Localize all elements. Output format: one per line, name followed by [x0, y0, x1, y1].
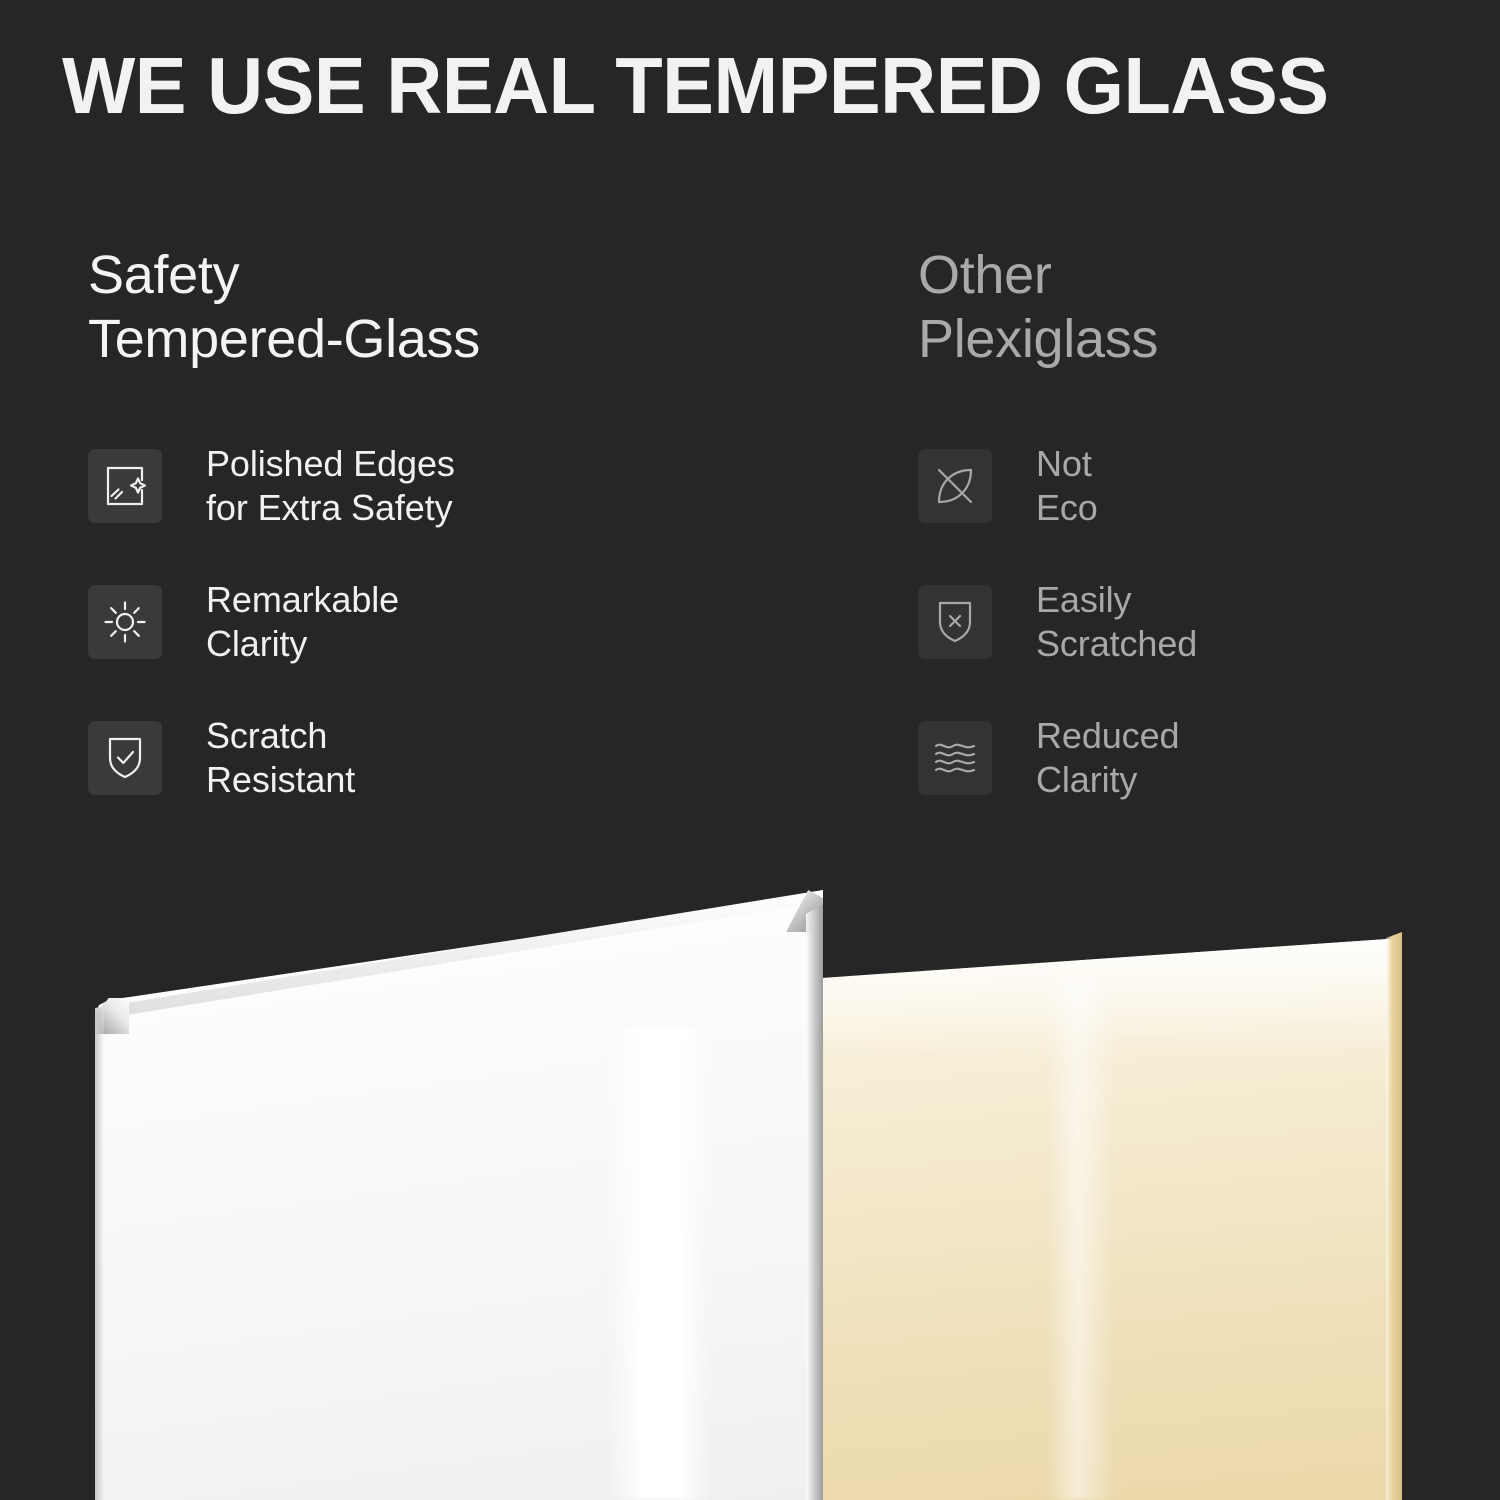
glass-right-edge — [806, 904, 823, 1500]
polished-edge-sparkle-icon — [88, 449, 162, 523]
feature-label: Reduced Clarity — [1036, 714, 1179, 803]
feature-label: Not Eco — [1036, 442, 1098, 531]
plexiglass-reflection — [1046, 980, 1116, 1500]
leaf-crossed-out-icon — [918, 449, 992, 523]
feature-reduced-clarity: Reduced Clarity — [918, 721, 1478, 795]
product-comparison-photo — [0, 860, 1500, 1500]
glass-left-edge — [95, 1008, 104, 1500]
column-heading-safety: Safety Tempered-Glass — [88, 244, 848, 371]
feature-easily-scratched: Easily Scratched — [918, 585, 1478, 659]
feature-scratch-resistant: Scratch Resistant — [88, 721, 848, 795]
wavy-lines-blur-icon — [918, 721, 992, 795]
plexiglass-right-edge — [1386, 932, 1402, 1500]
column-heading-other: Other Plexiglass — [918, 244, 1478, 371]
feature-label: Polished Edges for Extra Safety — [206, 442, 455, 531]
feature-label: Remarkable Clarity — [206, 578, 399, 667]
feature-not-eco: Not Eco — [918, 449, 1478, 523]
column-other-plexiglass: Other Plexiglass Not Eco Easily Scratche… — [918, 244, 1478, 795]
page-title: WE USE REAL TEMPERED GLASS — [62, 44, 1329, 128]
feature-label: Scratch Resistant — [206, 714, 355, 803]
shield-x-icon — [918, 585, 992, 659]
sun-clarity-icon — [88, 585, 162, 659]
column-safety-tempered-glass: Safety Tempered-Glass Polished Edges for… — [88, 244, 848, 795]
infographic-canvas: WE USE REAL TEMPERED GLASS Safety Temper… — [0, 0, 1500, 1500]
shield-check-icon — [88, 721, 162, 795]
feature-remarkable-clarity: Remarkable Clarity — [88, 585, 848, 659]
glass-reflection-band — [604, 1028, 714, 1500]
feature-label: Easily Scratched — [1036, 578, 1197, 667]
feature-polished-edges: Polished Edges for Extra Safety — [88, 449, 848, 523]
